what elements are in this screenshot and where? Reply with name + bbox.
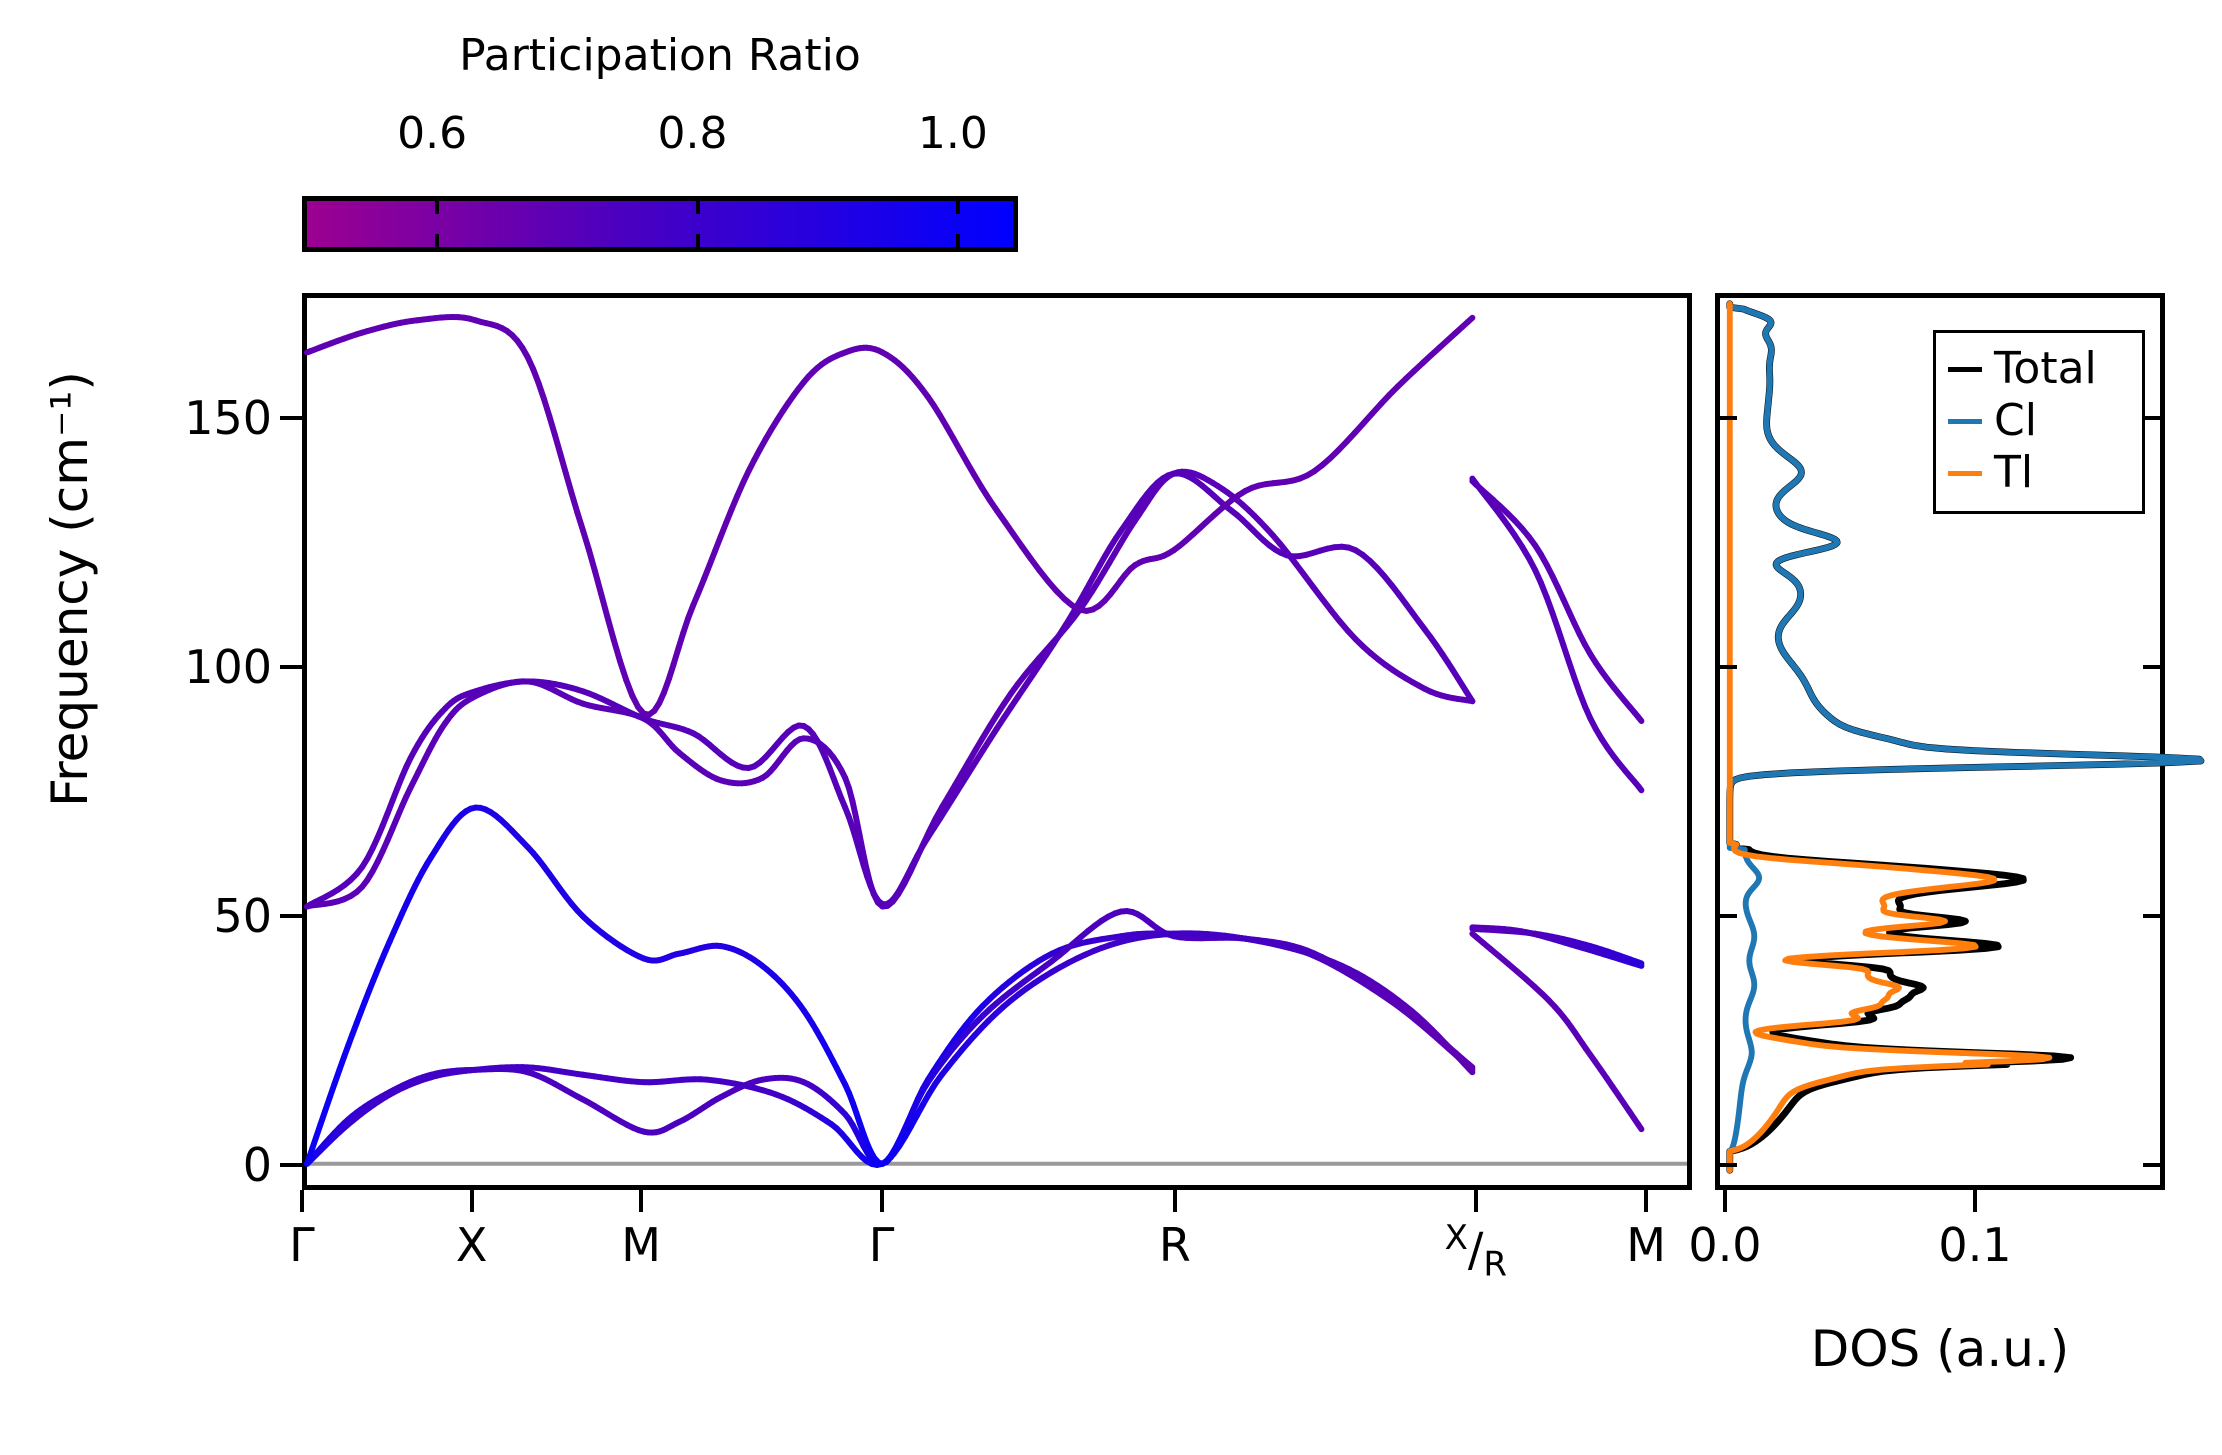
- band-segment: [589, 550, 595, 571]
- band-segment: [595, 571, 601, 594]
- band-segment: [614, 640, 620, 661]
- band-segment: [560, 454, 566, 474]
- dos-y-tick-mark: [1715, 416, 1737, 420]
- band-x-tick-mark: [470, 1190, 474, 1212]
- band-segment: [1469, 1069, 1473, 1073]
- colorbar-tick-label: 0.8: [658, 108, 728, 159]
- dos-y-tick-mark: [1715, 914, 1737, 918]
- colorbar-tick-mark: [696, 201, 700, 214]
- band-x-tick-mark: [1644, 1190, 1648, 1212]
- colorbar-tick-mark: [956, 234, 960, 247]
- band-x-tick-mark: [1474, 1190, 1478, 1212]
- band-segment: [607, 617, 613, 640]
- band-y-tick-label: 100: [72, 640, 272, 694]
- dos-x-tick-mark: [1973, 1190, 1977, 1212]
- dos-y-tick-mark: [2143, 1163, 2165, 1167]
- dos-y-tick-mark: [2143, 665, 2165, 669]
- colorbar-gradient: [307, 201, 1013, 247]
- band-segment: [1468, 318, 1472, 322]
- dos-x-tick-mark: [1723, 1190, 1727, 1212]
- legend-item-total[interactable]: Total: [1948, 343, 2130, 395]
- band-y-tick-mark: [280, 1163, 302, 1167]
- band-x-tick-mark: [639, 1190, 643, 1212]
- colorbar-tick-mark: [435, 201, 439, 214]
- dos-x-tick-label: 0.0: [1688, 1218, 1761, 1272]
- band-segment: [1638, 1125, 1641, 1130]
- colorbar-title: Participation Ratio: [302, 30, 1018, 81]
- dos-legend: TotalClTl: [1933, 330, 2145, 514]
- band-segment: [566, 474, 572, 494]
- band-structure-axes: [302, 293, 1692, 1190]
- band-segment: [1638, 962, 1641, 963]
- colorbar: [302, 196, 1018, 252]
- legend-item-tl[interactable]: Tl: [1948, 447, 2130, 499]
- phonon-band-4: [307, 472, 1641, 907]
- band-x-tick-mark: [1173, 1190, 1177, 1212]
- legend-line-swatch: [1948, 471, 1982, 476]
- legend-line-swatch: [1948, 419, 1982, 424]
- phonon-band-6: [307, 317, 1472, 715]
- band-segment: [601, 594, 607, 617]
- phonon-figure: Participation Ratio 0.60.81.0 050100150 …: [0, 0, 2222, 1455]
- band-y-tick-label: 0: [72, 1138, 272, 1192]
- phonon-band-5: [307, 474, 1641, 907]
- legend-label: Cl: [1994, 399, 2037, 443]
- colorbar-tick-labels: 0.60.81.0: [302, 108, 1018, 158]
- dos-y-tick-mark: [1715, 1163, 1737, 1167]
- band-x-tick-label: M: [1626, 1218, 1666, 1272]
- band-segment: [572, 493, 578, 512]
- dos-y-tick-mark: [2143, 416, 2165, 420]
- band-x-tick-label: X: [456, 1218, 488, 1272]
- band-x-tick-mark: [300, 1190, 304, 1212]
- colorbar-tick-label: 1.0: [918, 108, 988, 159]
- dos-y-tick-mark: [1715, 665, 1737, 669]
- band-segment: [555, 435, 561, 454]
- band-segment: [620, 661, 626, 680]
- band-segment: [1470, 697, 1473, 701]
- band-segment: [1638, 717, 1641, 721]
- colorbar-tick-mark: [435, 234, 439, 247]
- dos-y-tick-mark: [2143, 914, 2165, 918]
- legend-label: Total: [1994, 347, 2097, 391]
- band-y-tick-mark: [280, 416, 302, 420]
- band-segment: [1638, 786, 1641, 790]
- band-x-tick-label: R: [1159, 1218, 1191, 1272]
- band-x-tick-label: Γ: [289, 1218, 315, 1272]
- band-structure-plot: [307, 298, 1687, 1189]
- legend-label: Tl: [1994, 451, 2033, 495]
- band-x-tick-label: Γ: [869, 1218, 895, 1272]
- band-y-tick-label: 150: [72, 391, 272, 445]
- band-x-tick-mark: [880, 1190, 884, 1212]
- legend-item-cl[interactable]: Cl: [1948, 395, 2130, 447]
- phonon-band-1: [307, 808, 1641, 1164]
- band-segment: [583, 531, 589, 550]
- colorbar-tick-mark: [956, 201, 960, 214]
- band-x-tick-label: X/R: [1445, 1218, 1507, 1285]
- band-y-axis-label: Frequency (cm⁻¹): [41, 279, 99, 899]
- colorbar-tick-mark: [696, 234, 700, 247]
- band-y-tick-label: 50: [72, 889, 272, 943]
- legend-line-swatch: [1948, 367, 1982, 372]
- phonon-band-3: [307, 929, 1641, 1165]
- dos-x-tick-label: 0.1: [1938, 1218, 2011, 1272]
- band-x-tick-label: M: [621, 1218, 661, 1272]
- colorbar-tick-label: 0.6: [397, 108, 467, 159]
- band-y-tick-mark: [280, 665, 302, 669]
- band-y-tick-mark: [280, 914, 302, 918]
- dos-x-axis-label: DOS (a.u.): [1715, 1320, 2165, 1378]
